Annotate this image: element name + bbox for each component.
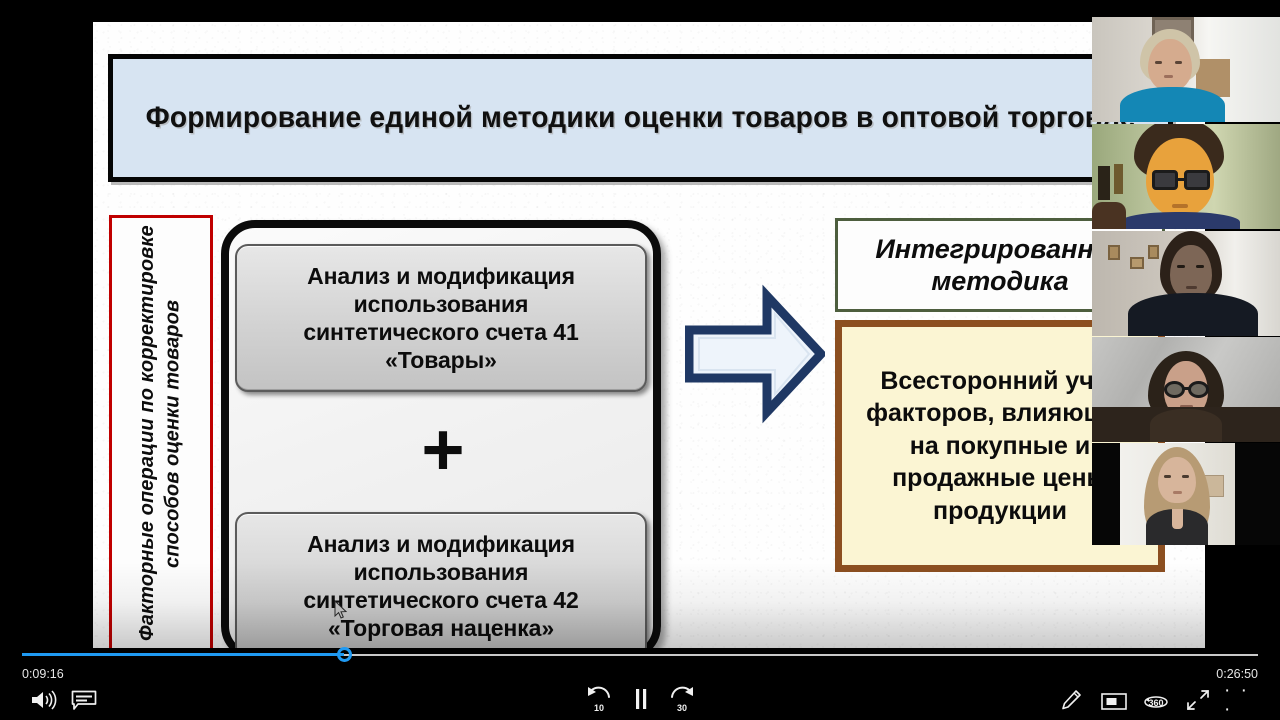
360-view-icon[interactable]: 360 [1140, 684, 1172, 714]
progress-bar[interactable] [0, 648, 1280, 662]
progress-scrubber[interactable] [337, 647, 352, 662]
account-41-box: Анализ и модификация использования синте… [235, 244, 647, 392]
slide-title-banner: Формирование единой методики оценки това… [108, 54, 1173, 182]
pencil-icon[interactable] [1056, 685, 1086, 715]
player-controls: 0:09:16 0:26:50 [0, 655, 1280, 720]
subtitles-icon[interactable] [68, 685, 100, 715]
participant-tile-2[interactable] [1092, 124, 1280, 229]
vr-label: 360 [1148, 698, 1163, 708]
participant-tile-1[interactable] [1092, 17, 1280, 122]
pause-icon[interactable] [628, 684, 654, 714]
page-title: Формирование единой методики оценки това… [146, 99, 1136, 137]
video-stage[interactable]: Формирование единой методики оценки това… [0, 0, 1280, 655]
integrated-method-label: Интегрированная методика [875, 233, 1124, 298]
screenshot-icon[interactable] [1098, 686, 1130, 716]
account-42-box: Анализ и модификация использования синте… [235, 512, 647, 648]
side-label-text: Факторные операции по корректировке спос… [135, 218, 186, 648]
right-block-arrow-icon [685, 284, 825, 424]
progress-fill [22, 653, 344, 656]
more-options-icon[interactable]: · · · [1224, 685, 1258, 715]
current-time: 0:09:16 [22, 667, 64, 681]
slide-page-number: 3 [1199, 630, 1205, 648]
exit-fullscreen-icon[interactable] [1182, 685, 1214, 715]
account-42-label: Анализ и модификация использования синте… [303, 530, 578, 642]
presentation-slide: Формирование единой методики оценки това… [93, 22, 1205, 648]
participant-video-strip [1092, 0, 1280, 545]
participant-tile-3[interactable] [1092, 231, 1280, 336]
participant-tile-5[interactable] [1092, 443, 1280, 545]
plus-symbol: + [403, 410, 483, 490]
account-41-label: Анализ и модификация использования синте… [303, 262, 578, 374]
forward-30-icon[interactable]: 30 [666, 683, 698, 713]
participant-tile-4[interactable] [1092, 337, 1280, 442]
more-options-dots: · · · [1224, 681, 1258, 719]
total-time: 0:26:50 [1216, 667, 1258, 681]
forward-seconds-label: 30 [677, 703, 687, 713]
side-label-box: Факторные операции по корректировке спос… [109, 215, 213, 648]
rewind-10-icon[interactable]: 10 [583, 683, 615, 713]
video-player-screen: Формирование единой методики оценки това… [0, 0, 1280, 720]
speaker-volume-icon[interactable] [26, 685, 60, 715]
rewind-seconds-label: 10 [594, 703, 604, 713]
